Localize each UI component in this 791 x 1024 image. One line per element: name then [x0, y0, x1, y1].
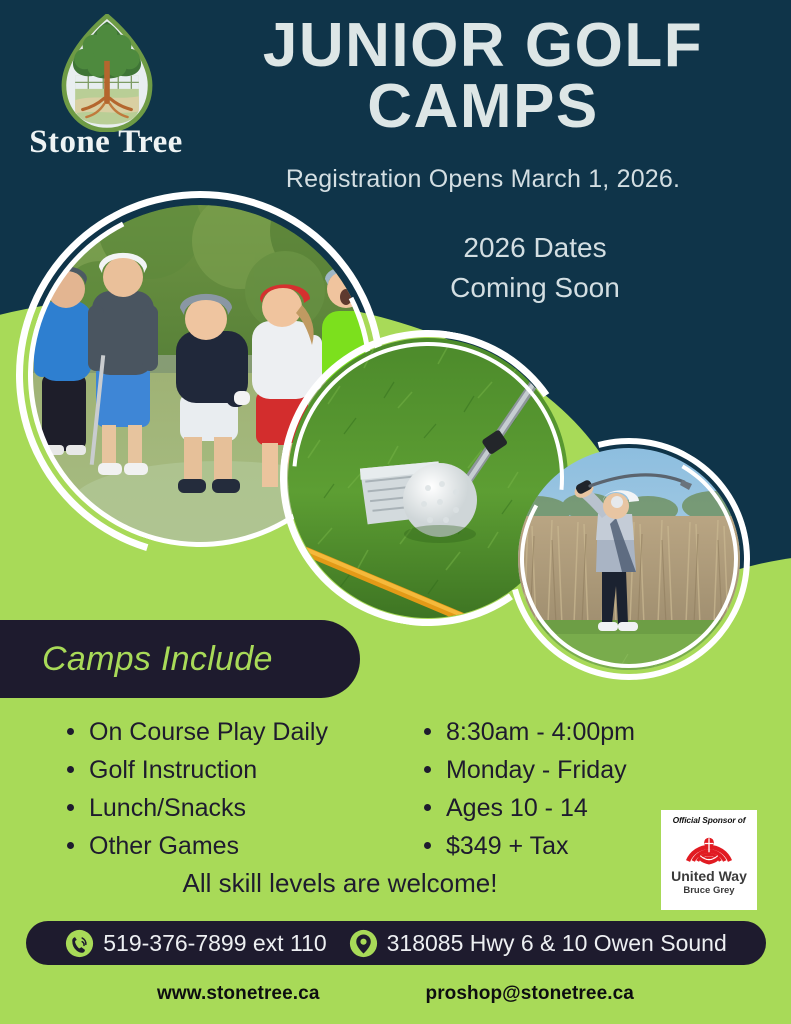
- dates-announcement: 2026 Dates Coming Soon: [300, 228, 770, 308]
- list-item: 8:30am - 4:00pm: [420, 713, 720, 751]
- list-item: Other Games: [63, 827, 393, 865]
- phone-contact[interactable]: 519-376-7899 ext 110: [65, 929, 326, 958]
- sponsor-name: United Way: [671, 869, 747, 883]
- camps-include-heading: Camps Include: [0, 620, 360, 698]
- sponsor-region: Bruce Grey: [683, 885, 734, 896]
- sponsor-prefix: Official Sponsor of: [673, 815, 746, 825]
- united-way-sponsor-logo: Official Sponsor of United Way Bruce Gre…: [661, 810, 757, 910]
- page-title: JUNIOR GOLF CAMPS: [190, 16, 776, 138]
- address: 318085 Hwy 6 & 10 Owen Sound: [387, 930, 727, 957]
- list-item: Lunch/Snacks: [63, 789, 393, 827]
- list-item: On Course Play Daily: [63, 713, 393, 751]
- welcome-note: All skill levels are welcome!: [40, 868, 640, 899]
- title-line-2: CAMPS: [190, 77, 776, 138]
- phone-icon: [65, 929, 94, 958]
- website-link[interactable]: www.stonetree.ca: [157, 983, 319, 1005]
- dates-line-2: Coming Soon: [300, 268, 770, 308]
- phone-number: 519-376-7899 ext 110: [103, 930, 326, 957]
- registration-note: Registration Opens March 1, 2026.: [190, 165, 776, 194]
- contact-bar: 519-376-7899 ext 110 318085 Hwy 6 & 10 O…: [26, 921, 766, 965]
- footer-links: www.stonetree.ca proshop@stonetree.ca: [0, 983, 791, 1005]
- list-item: Golf Instruction: [63, 751, 393, 789]
- list-item: Monday - Friday: [420, 751, 720, 789]
- camps-include-label: Camps Include: [42, 640, 273, 679]
- camps-include-left-list: On Course Play Daily Golf Instruction Lu…: [63, 713, 393, 865]
- location-contact[interactable]: 318085 Hwy 6 & 10 Owen Sound: [349, 929, 727, 958]
- email-link[interactable]: proshop@stonetree.ca: [425, 983, 633, 1005]
- photo-junior-golfer-swinging: [518, 448, 740, 670]
- junior-golf-camps-flyer: Stone Tree JUNIOR GOLF CAMPS Registratio…: [0, 0, 791, 1024]
- dates-line-1: 2026 Dates: [300, 228, 770, 268]
- stone-tree-logo: Stone Tree: [26, 12, 186, 167]
- map-pin-icon: [349, 929, 378, 958]
- title-line-1: JUNIOR GOLF: [190, 16, 776, 77]
- stone-tree-leaf-logo-icon: [60, 14, 154, 132]
- brand-name: Stone Tree: [26, 124, 186, 161]
- united-way-hand-rainbow-icon: [682, 826, 736, 868]
